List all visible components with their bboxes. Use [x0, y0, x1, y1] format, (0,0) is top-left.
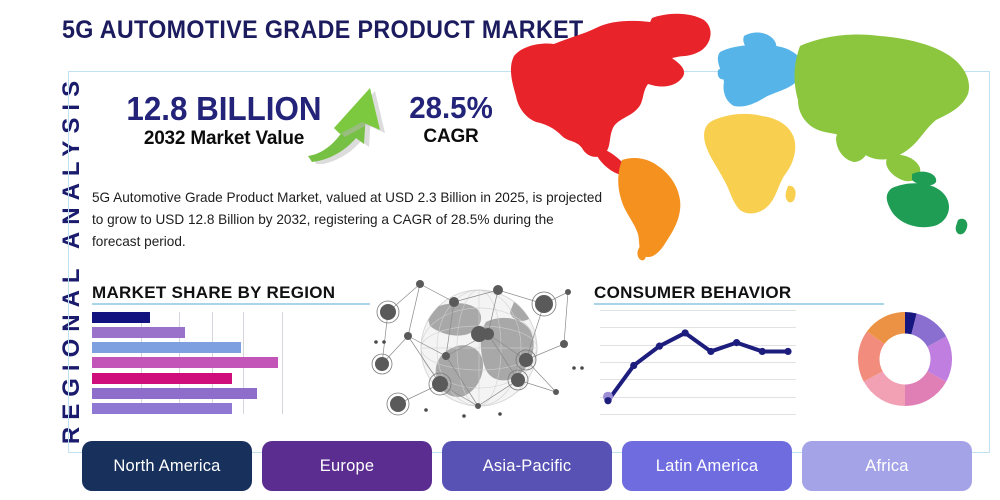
up-arrow-icon: [300, 82, 400, 164]
map-region-oceania: [887, 183, 949, 227]
bar-segment: [92, 312, 150, 323]
bar-segment: [92, 403, 232, 414]
bar-segment: [92, 357, 278, 368]
map-region-new-zealand: [956, 219, 968, 235]
bar-row: [92, 403, 286, 414]
region-button-latin-america[interactable]: Latin America: [622, 441, 792, 491]
kpi-cagr: 28.5% CAGR: [386, 92, 516, 148]
data-point: [604, 397, 611, 404]
bar-segment: [92, 373, 232, 384]
region-buttons-bar: North AmericaEuropeAsia-PacificLatin Ame…: [82, 441, 972, 491]
bar-row: [92, 373, 286, 384]
map-region-africa: [704, 114, 795, 214]
map-region-south-america: [618, 158, 680, 257]
data-point: [733, 339, 740, 346]
region-button-label: Africa: [865, 457, 908, 476]
kpi-market-value-caption: 2032 Market Value: [118, 128, 330, 150]
bar-segment: [92, 388, 257, 399]
region-button-label: Asia-Pacific: [483, 457, 572, 476]
kpi-market-value: 12.8 BILLION 2032 Market Value: [118, 92, 330, 150]
consumer-behavior-section-title: CONSUMER BEHAVIOR: [594, 283, 791, 303]
line-chart-series: [600, 310, 796, 414]
bar-segment: [92, 342, 241, 353]
global-network-illustration: [368, 272, 590, 424]
map-region-madagascar: [786, 186, 796, 203]
bar-row: [92, 312, 286, 323]
kpi-cagr-caption: CAGR: [386, 126, 516, 148]
bar-row: [92, 357, 286, 368]
market-share-bar-chart: [92, 312, 286, 414]
kpi-cagr-number: 28.5%: [389, 92, 513, 125]
data-point: [656, 343, 663, 350]
data-point: [759, 348, 766, 355]
description-text: 5G Automotive Grade Product Market, valu…: [92, 187, 604, 253]
region-button-label: Europe: [320, 457, 374, 476]
bar-segment: [92, 327, 185, 338]
infographic-root: 5G AUTOMOTIVE GRADE PRODUCT MARKET REGIO…: [0, 0, 1000, 500]
market-share-section-title: MARKET SHARE BY REGION: [92, 283, 335, 303]
gridline: [600, 414, 796, 415]
data-point: [784, 348, 791, 355]
kpi-market-value-number: 12.8 BILLION: [123, 92, 324, 127]
bar-chart-bars: [92, 312, 286, 414]
region-button-europe[interactable]: Europe: [262, 441, 432, 491]
data-point: [707, 348, 714, 355]
data-point: [682, 329, 689, 336]
market-share-rule: [92, 303, 370, 305]
bar-row: [92, 388, 286, 399]
region-button-label: North America: [113, 457, 220, 476]
donut-chart: [856, 310, 954, 408]
data-point: [630, 362, 637, 369]
bar-row: [92, 342, 286, 353]
region-button-africa[interactable]: Africa: [802, 441, 972, 491]
region-button-label: Latin America: [656, 457, 759, 476]
consumer-behavior-line-chart: [600, 310, 796, 414]
consumer-behavior-rule: [594, 303, 884, 305]
region-button-north-america[interactable]: North America: [82, 441, 252, 491]
bar-row: [92, 327, 286, 338]
region-button-asia-pacific[interactable]: Asia-Pacific: [442, 441, 612, 491]
